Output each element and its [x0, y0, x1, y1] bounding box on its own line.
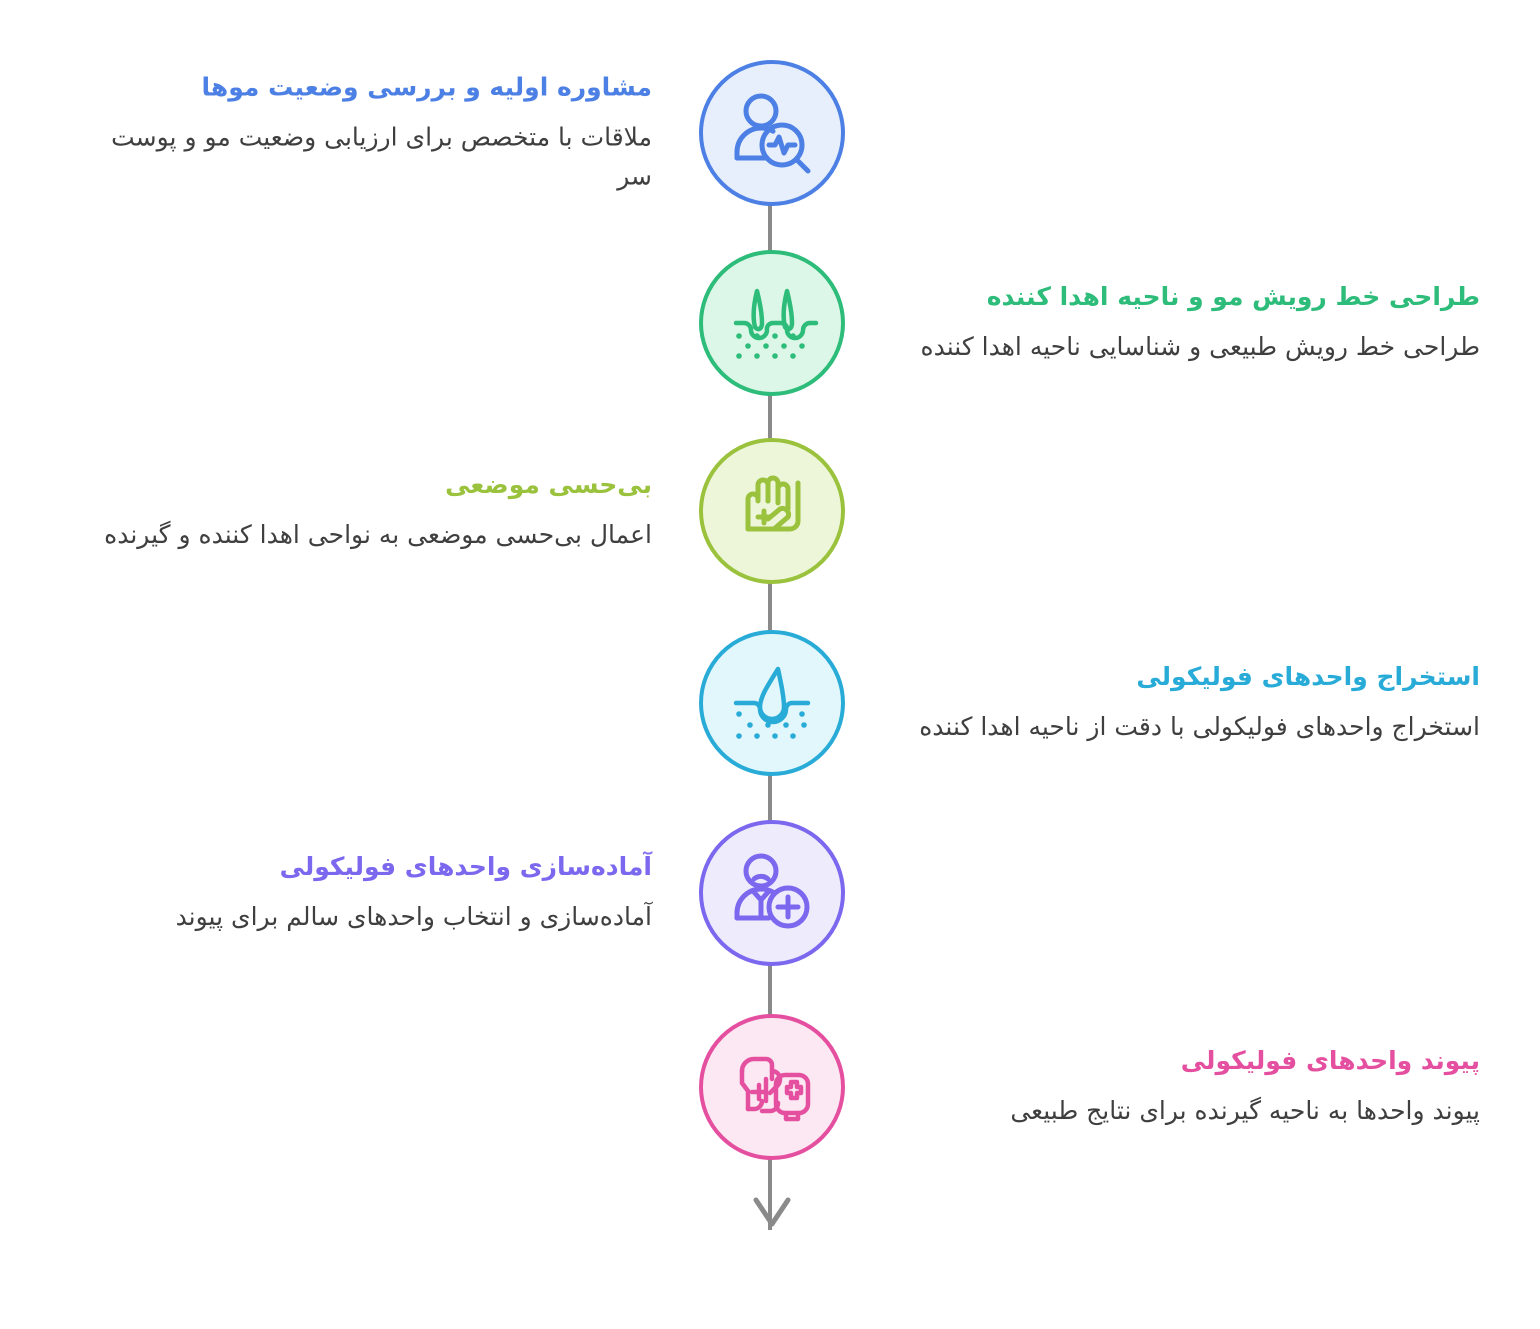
step-description-6: پیوند واحدها به ناحیه گیرنده برای نتایج …: [886, 1092, 1480, 1131]
step-description-3: اعمال بی‌حسی موضعی به نواحی اهدا کننده و…: [62, 516, 652, 555]
step-title-5: آماده‌سازی واحدهای فولیکولی: [42, 850, 652, 884]
step-description-4: استخراج واحدهای فولیکولی با دقت از ناحیه…: [900, 708, 1480, 747]
step-node-1[interactable]: [699, 60, 845, 206]
step-title-6: پیوند واحدهای فولیکولی: [886, 1044, 1480, 1078]
medical-gloves-firstaid-icon: [724, 1039, 820, 1135]
step-text-6: پیوند واحدهای فولیکولی پیوند واحدها به ن…: [886, 1044, 1480, 1131]
step-text-3: بی‌حسی موضعی اعمال بی‌حسی موضعی به نواحی…: [42, 468, 652, 555]
step-title-4: استخراج واحدهای فولیکولی: [886, 660, 1480, 694]
step-node-3[interactable]: [699, 438, 845, 584]
step-description-5: آماده‌سازی و انتخاب واحدهای سالم برای پی…: [52, 898, 652, 937]
step-description-2: طراحی خط رویش طبیعی و شناسایی ناحیه اهدا…: [900, 328, 1480, 367]
step-text-5: آماده‌سازی واحدهای فولیکولی آماده‌سازی و…: [42, 850, 652, 937]
step-text-1: مشاوره اولیه و بررسی وضعیت موها ملاقات ب…: [42, 70, 652, 195]
step-node-6[interactable]: [699, 1014, 845, 1160]
step-text-4: استخراج واحدهای فولیکولی استخراج واحدهای…: [886, 660, 1480, 747]
step-description-1: ملاقات با متخصص برای ارزیابی وضعیت مو و …: [72, 118, 652, 196]
doctor-medical-plus-icon: [724, 845, 820, 941]
hair-follicles-skin-icon: [724, 275, 820, 371]
step-node-2[interactable]: [699, 250, 845, 396]
step-node-4[interactable]: [699, 630, 845, 776]
down-arrow-icon: [752, 1196, 792, 1240]
step-title-2: طراحی خط رویش مو و ناحیه اهدا کننده: [886, 280, 1480, 314]
follicle-extraction-droplet-icon: [724, 655, 820, 751]
step-title-3: بی‌حسی موضعی: [42, 468, 652, 502]
step-node-5[interactable]: [699, 820, 845, 966]
person-magnifier-pulse-icon: [724, 85, 820, 181]
step-title-1: مشاوره اولیه و بررسی وضعیت موها: [42, 70, 652, 104]
step-text-2: طراحی خط رویش مو و ناحیه اهدا کننده طراح…: [886, 280, 1480, 367]
hair-transplant-timeline-infographic: مشاوره اولیه و بررسی وضعیت موها ملاقات ب…: [0, 0, 1540, 1329]
gloved-hand-icon: [724, 463, 820, 559]
